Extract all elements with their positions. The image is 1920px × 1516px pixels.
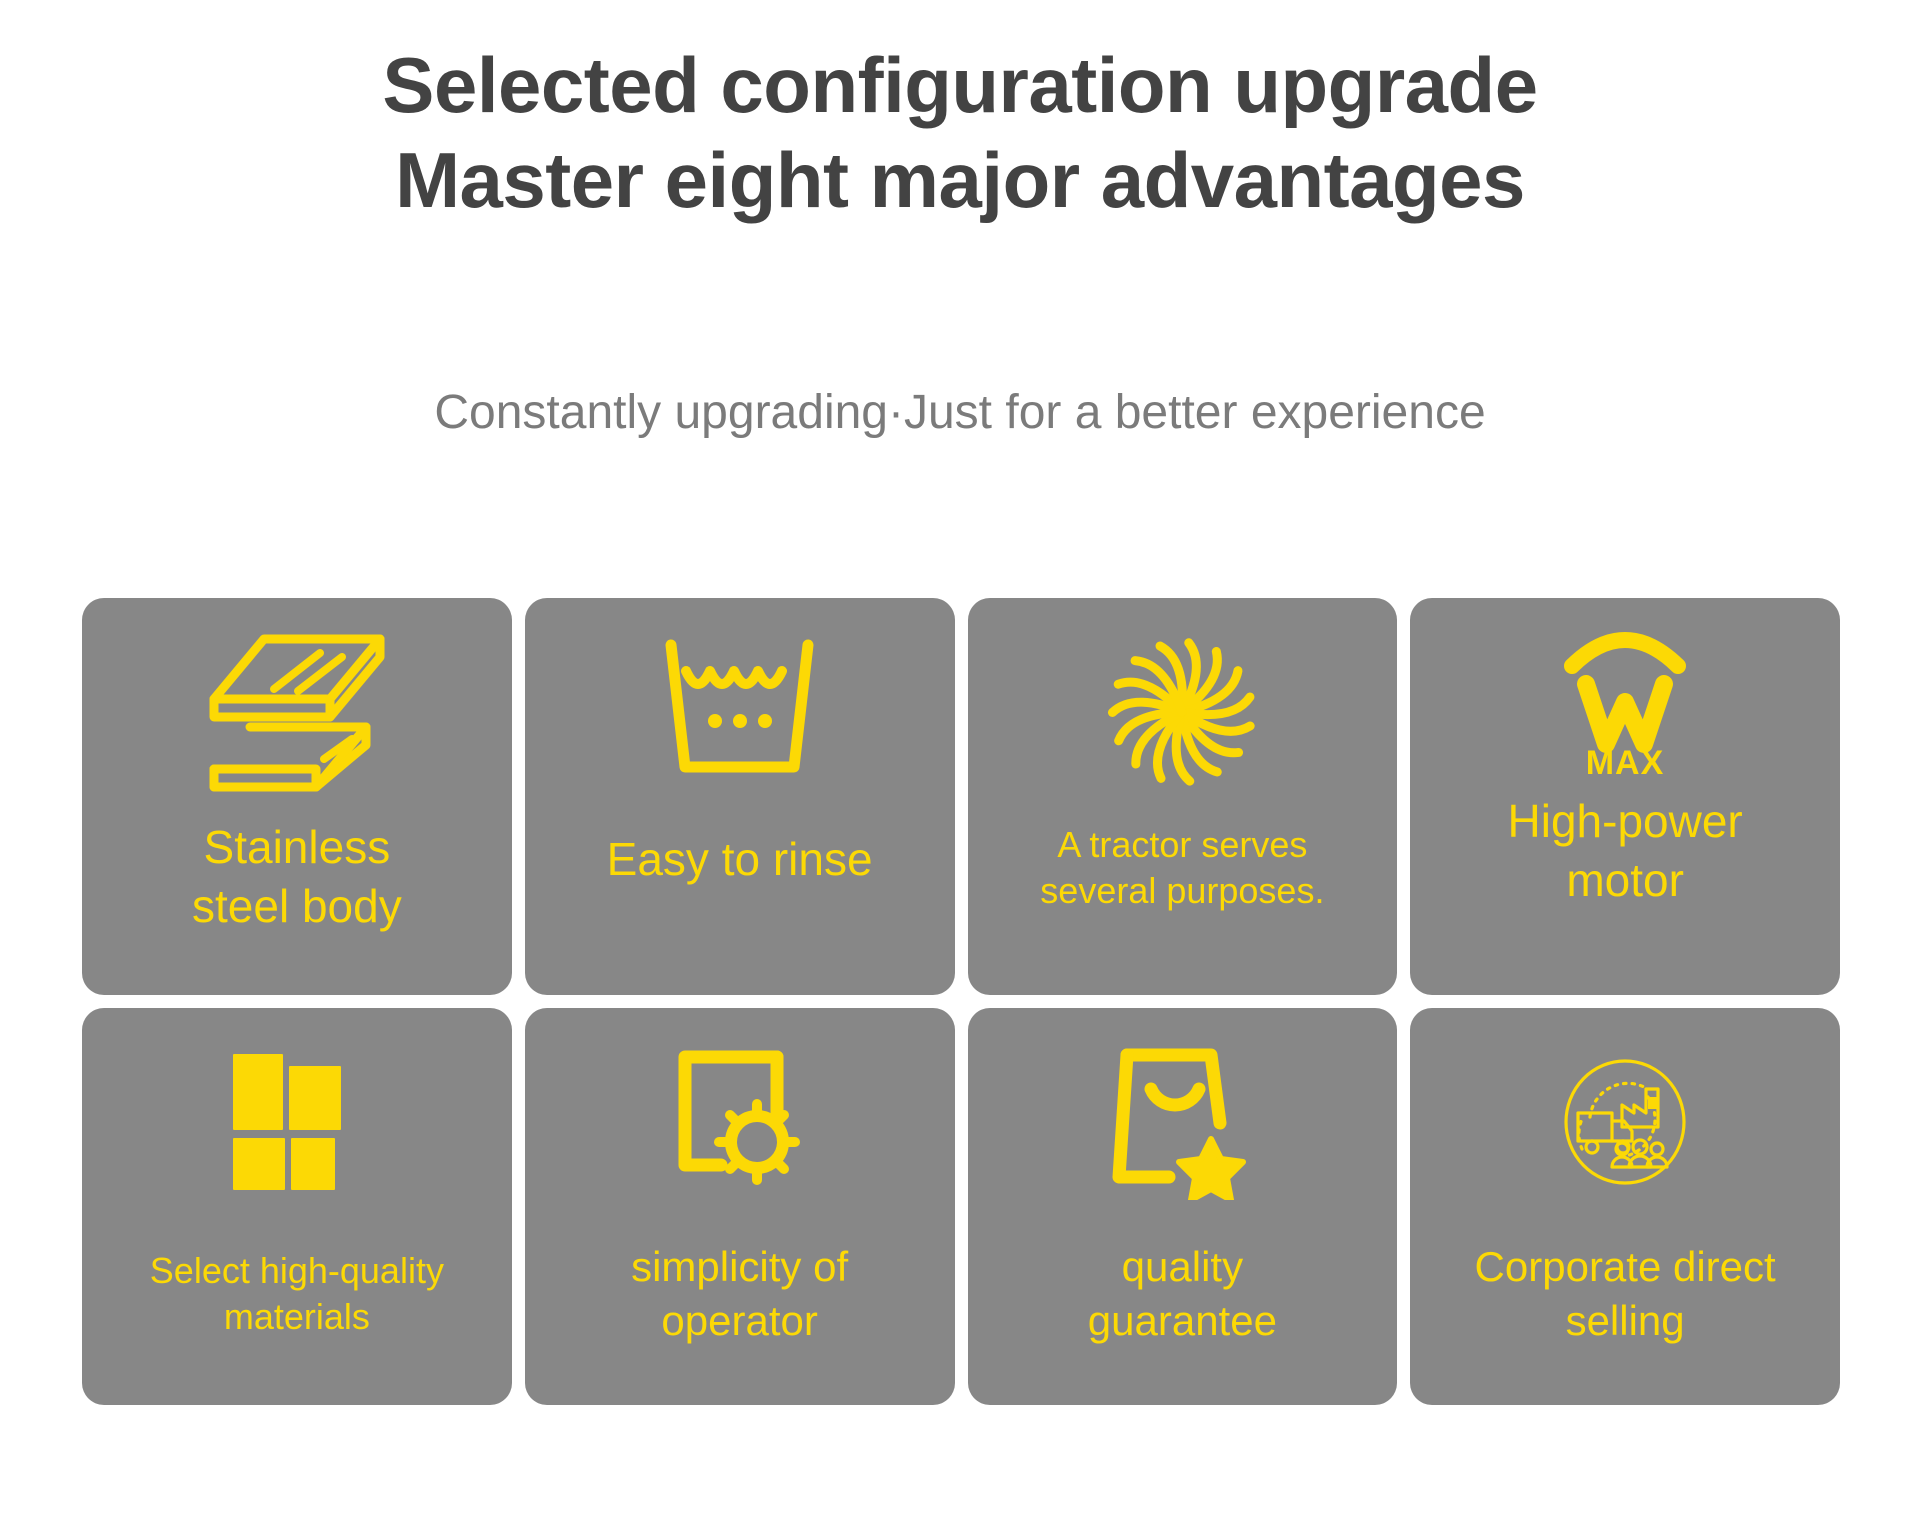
- max-power-w-icon: MAX: [1410, 598, 1840, 798]
- subtitle-left: Constantly upgrading: [434, 384, 888, 442]
- page-title-line-2: Master eight major advantages: [0, 133, 1920, 228]
- material-blocks-icon: [82, 1008, 512, 1226]
- feature-card-corporate-direct-selling[interactable]: Corporate direct selling: [1410, 1008, 1840, 1405]
- feature-card-label: Select high-quality materials: [82, 1248, 512, 1340]
- feature-card-high-power-motor[interactable]: MAX High-power motor: [1410, 598, 1840, 995]
- bag-star-icon: [968, 1008, 1398, 1226]
- page-subtitle: Constantly upgrading·Just for a better e…: [0, 384, 1920, 442]
- promo-feature-page: Selected configuration upgrade Master ei…: [0, 0, 1920, 1516]
- feature-card-label: Easy to rinse: [525, 830, 955, 889]
- feature-card-multi-purpose[interactable]: A tractor serves several purposes.: [968, 598, 1398, 995]
- feature-card-label: quality guarantee: [968, 1240, 1398, 1348]
- feature-card-grid: Stainless steel body Easy to rinse: [82, 598, 1840, 1405]
- feature-card-high-quality-materials[interactable]: Select high-quality materials: [82, 1008, 512, 1405]
- page-title-line-1: Selected configuration upgrade: [0, 38, 1920, 133]
- feature-card-label: High-power motor: [1410, 792, 1840, 910]
- subtitle-right: Just for a better experience: [904, 384, 1486, 442]
- swirl-blades-icon: [968, 598, 1398, 816]
- panel-gear-icon: [525, 1008, 955, 1226]
- feature-card-stainless-steel-body[interactable]: Stainless steel body: [82, 598, 512, 995]
- factory-truck-people-icon: [1410, 1008, 1840, 1226]
- svg-text:MAX: MAX: [1586, 744, 1665, 778]
- subtitle-separator: ·: [888, 384, 904, 442]
- page-header: Selected configuration upgrade Master ei…: [0, 38, 1920, 228]
- feature-card-quality-guarantee[interactable]: quality guarantee: [968, 1008, 1398, 1405]
- feature-card-label: A tractor serves several purposes.: [968, 822, 1398, 914]
- feature-card-label: simplicity of operator: [525, 1240, 955, 1348]
- stacked-metal-sheets-icon: [82, 598, 512, 816]
- feature-card-label: Corporate direct selling: [1410, 1240, 1840, 1348]
- feature-card-easy-to-rinse[interactable]: Easy to rinse: [525, 598, 955, 995]
- feature-card-label: Stainless steel body: [82, 818, 512, 936]
- feature-card-simple-operation[interactable]: simplicity of operator: [525, 1008, 955, 1405]
- wash-basin-water-icon: [525, 598, 955, 816]
